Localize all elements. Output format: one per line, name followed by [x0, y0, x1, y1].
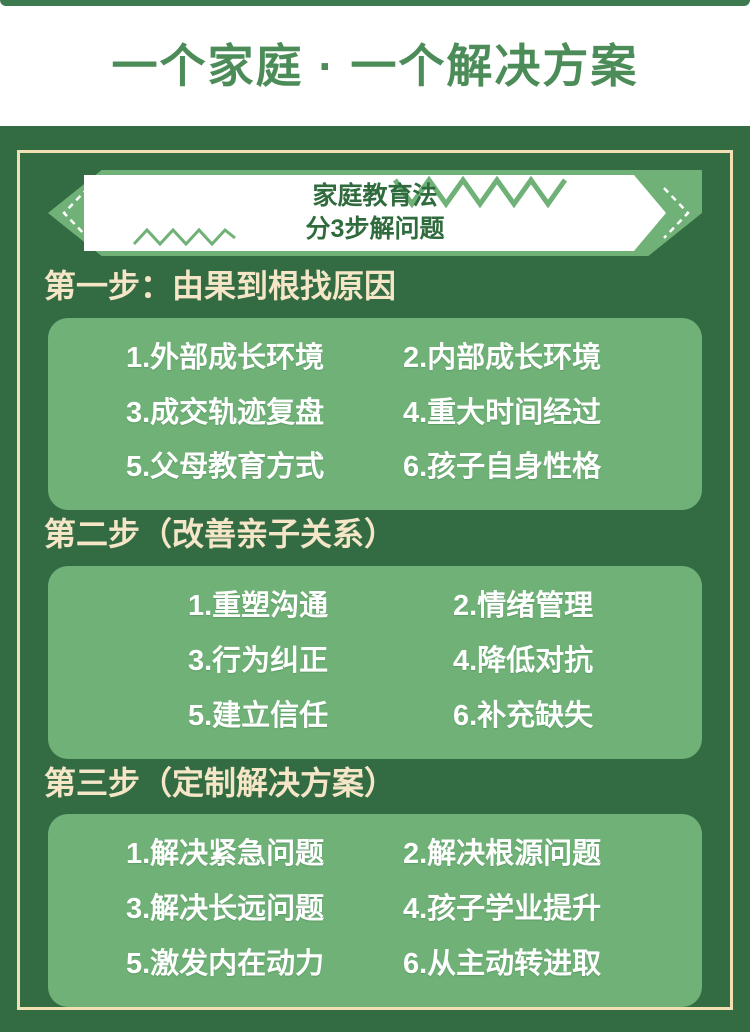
step-3-heading: 第三步（定制解决方案） — [0, 763, 750, 805]
list-item: 5.建立信任 — [48, 694, 375, 739]
list-item: 3.解决长远问题 — [48, 887, 375, 932]
list-item: 6.补充缺失 — [375, 694, 702, 739]
list-item: 1.解决紧急问题 — [48, 832, 375, 877]
list-item: 2.解决根源问题 — [375, 832, 702, 877]
step-section-1: 第一步：由果到根找原因 1.外部成长环境 2.内部成长环境 3.成交轨迹复盘 4… — [0, 266, 750, 510]
step-3-items-box: 1.解决紧急问题 2.解决根源问题 3.解决长远问题 4.孩子学业提升 5.激发… — [48, 814, 702, 1007]
list-item: 4.重大时间经过 — [375, 391, 702, 436]
list-item: 4.孩子学业提升 — [375, 887, 702, 932]
steps-container: 第一步：由果到根找原因 1.外部成长环境 2.内部成长环境 3.成交轨迹复盘 4… — [0, 266, 750, 1011]
list-item: 5.父母教育方式 — [48, 445, 375, 490]
list-item: 4.降低对抗 — [375, 639, 702, 684]
banner-text-group: 家庭教育法 分3步解问题 — [48, 170, 702, 256]
list-item: 2.情绪管理 — [375, 584, 702, 629]
list-item: 3.行为纠正 — [48, 639, 375, 684]
step-section-2: 第二步（改善亲子关系） 1.重塑沟通 2.情绪管理 3.行为纠正 4.降低对抗 … — [0, 514, 750, 758]
title-band: 一个家庭 · 一个解决方案 — [0, 6, 750, 126]
page-title: 一个家庭 · 一个解决方案 — [112, 43, 639, 89]
banner-line-2: 分3步解问题 — [306, 213, 445, 246]
content-panel: 家庭教育法 分3步解问题 第一步：由果到根找原因 1.外部成长环境 2.内部成长… — [0, 126, 750, 1032]
step-1-items-box: 1.外部成长环境 2.内部成长环境 3.成交轨迹复盘 4.重大时间经过 5.父母… — [48, 318, 702, 511]
step-2-items-box: 1.重塑沟通 2.情绪管理 3.行为纠正 4.降低对抗 5.建立信任 6.补充缺… — [48, 566, 702, 759]
list-item: 3.成交轨迹复盘 — [48, 391, 375, 436]
list-item: 2.内部成长环境 — [375, 336, 702, 381]
list-item: 6.从主动转进取 — [375, 942, 702, 987]
list-item: 1.重塑沟通 — [48, 584, 375, 629]
step-2-item-grid: 1.重塑沟通 2.情绪管理 3.行为纠正 4.降低对抗 5.建立信任 6.补充缺… — [48, 584, 702, 739]
banner-line-1: 家庭教育法 — [312, 180, 437, 213]
step-1-heading: 第一步：由果到根找原因 — [0, 266, 750, 308]
list-item: 1.外部成长环境 — [48, 336, 375, 381]
step-2-heading: 第二步（改善亲子关系） — [0, 514, 750, 556]
list-item: 5.激发内在动力 — [48, 942, 375, 987]
poster-root: 一个家庭 · 一个解决方案 家庭教育法 分3步解问题 — [0, 0, 750, 1032]
list-item: 6.孩子自身性格 — [375, 445, 702, 490]
step-1-item-grid: 1.外部成长环境 2.内部成长环境 3.成交轨迹复盘 4.重大时间经过 5.父母… — [48, 336, 702, 491]
step-section-3: 第三步（定制解决方案） 1.解决紧急问题 2.解决根源问题 3.解决长远问题 4… — [0, 763, 750, 1007]
banner-ribbon: 家庭教育法 分3步解问题 — [48, 170, 702, 256]
step-3-item-grid: 1.解决紧急问题 2.解决根源问题 3.解决长远问题 4.孩子学业提升 5.激发… — [48, 832, 702, 987]
